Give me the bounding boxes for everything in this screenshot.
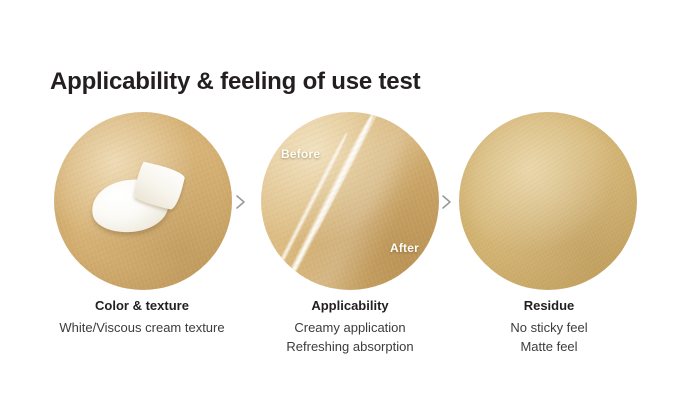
before-label: Before xyxy=(281,147,320,161)
panel-residue xyxy=(458,112,638,290)
panel-applicability: Before After xyxy=(260,112,440,290)
image-matte-skin-no-residue xyxy=(459,112,637,290)
after-label: After xyxy=(390,241,419,255)
panel-color-texture xyxy=(53,112,233,290)
caption-title: Applicability xyxy=(235,298,465,313)
cream-dollop-highlight xyxy=(104,190,138,206)
cream-dollop-icon xyxy=(92,164,184,236)
caption-line: Refreshing absorption xyxy=(235,337,465,356)
image-skin-with-cream-streaks: Before After xyxy=(261,112,439,290)
image-skin-with-cream-dollop xyxy=(54,112,232,290)
page-title: Applicability & feeling of use test xyxy=(50,68,420,96)
skin-texture-overlay xyxy=(459,112,637,290)
chevron-right-icon xyxy=(230,192,250,212)
caption-line: No sticky feel xyxy=(434,318,664,337)
caption-title: Color & texture xyxy=(27,298,257,313)
caption-title: Residue xyxy=(434,298,664,313)
caption-line: Creamy application xyxy=(235,318,465,337)
caption-color-texture: Color & texture White/Viscous cream text… xyxy=(27,298,257,337)
caption-line: Matte feel xyxy=(434,337,664,356)
caption-residue: Residue No sticky feel Matte feel xyxy=(434,298,664,356)
chevron-right-icon xyxy=(436,192,456,212)
caption-applicability: Applicability Creamy application Refresh… xyxy=(235,298,465,356)
caption-line: White/Viscous cream texture xyxy=(27,318,257,337)
